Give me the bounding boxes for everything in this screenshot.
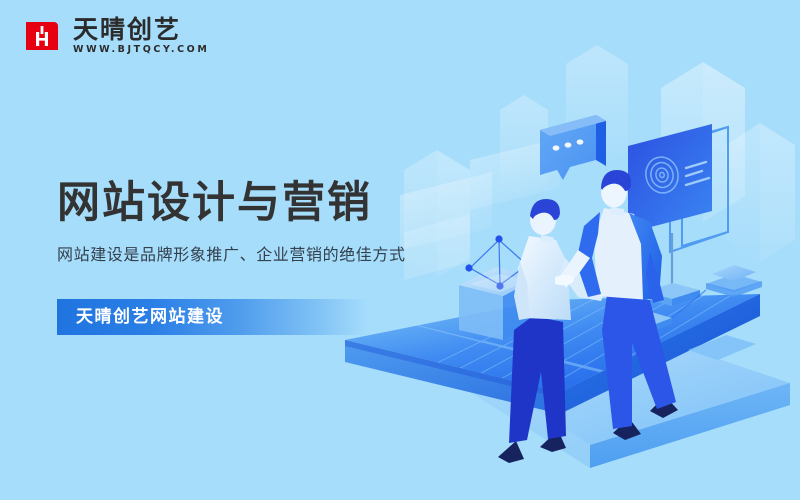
pad-connector: [672, 290, 706, 318]
network-nodes: [465, 235, 531, 289]
platform-pads: [624, 265, 762, 360]
chat-bubble-dots: [553, 139, 584, 150]
pad-far-right: [688, 335, 756, 360]
logo-text-block: 天晴创艺 WWW.BJTQCY.COM: [73, 17, 209, 55]
chat-bubble: [540, 115, 606, 180]
isometric-platform: [345, 294, 760, 414]
tianqing-square-logo-icon: [22, 16, 62, 56]
cta-banner-button[interactable]: 天晴创艺网站建设: [57, 299, 369, 335]
person-right: [558, 170, 678, 440]
hero-copy-block: 网站设计与营销 网站建设是品牌形象推广、企业营销的绝佳方式: [57, 178, 406, 266]
hero-headline: 网站设计与营销: [57, 178, 406, 228]
hero-subheadline: 网站建设是品牌形象推广、企业营销的绝佳方式: [57, 244, 406, 266]
isometric-base-plate: [420, 326, 790, 468]
network-node-diagram: [470, 240, 527, 285]
site-logo[interactable]: 天晴创艺 WWW.BJTQCY.COM: [22, 16, 209, 56]
person-left: [498, 199, 606, 463]
card-stand-base: [645, 283, 700, 306]
fingerprint-card-display: [628, 124, 728, 306]
fingerprint-icon: [642, 154, 682, 197]
handshake: [555, 275, 574, 286]
cta-label: 天晴创艺网站建设: [57, 308, 224, 326]
pad-right: [706, 265, 762, 297]
platform-grid: [372, 294, 733, 402]
pad-center: [624, 311, 672, 333]
card-text-lines: [686, 162, 709, 185]
background-buildings: [404, 45, 795, 278]
floating-ghost-panels: [400, 138, 560, 280]
network-node-pedestal: [459, 235, 540, 340]
hero-banner: 天晴创艺 WWW.BJTQCY.COM 网站设计与营销 网站建设是品牌形象推广、…: [0, 0, 800, 500]
logo-website-url: WWW.BJTQCY.COM: [73, 45, 209, 55]
logo-company-name: 天晴创艺: [73, 17, 209, 43]
